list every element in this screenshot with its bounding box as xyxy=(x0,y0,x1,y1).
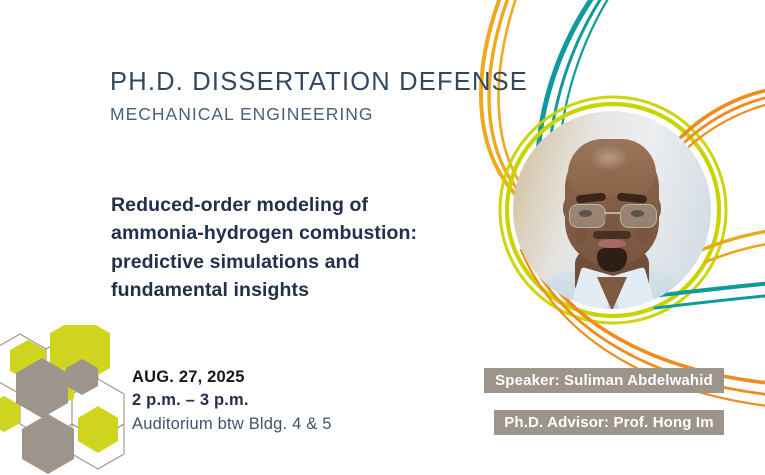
dissertation-title: Reduced-order modeling of ammonia-hydrog… xyxy=(111,191,467,305)
dissertation-title-line-2: ammonia-hydrogen combustion: xyxy=(111,219,467,247)
header-block: PH.D. DISSERTATION DEFENSE MECHANICAL EN… xyxy=(110,68,480,125)
event-time: 2 p.m. – 3 p.m. xyxy=(132,389,422,412)
dissertation-title-line-1: Reduced-order modeling of xyxy=(111,191,467,219)
speaker-portrait xyxy=(513,111,711,309)
department-subtitle: MECHANICAL ENGINEERING xyxy=(110,104,480,125)
portrait-moustache xyxy=(593,231,631,239)
glasses-lens-right xyxy=(620,204,657,228)
speaker-badge: Speaker: Suliman Abdelwahid xyxy=(484,368,724,393)
portrait-image xyxy=(513,111,711,309)
event-location: Auditorium btw Bldg. 4 & 5 xyxy=(132,413,422,436)
portrait-lips xyxy=(598,239,626,248)
page-title: PH.D. DISSERTATION DEFENSE xyxy=(110,68,480,97)
event-date: AUG. 27, 2025 xyxy=(132,366,422,389)
dissertation-title-line-4: fundamental insights xyxy=(111,276,467,304)
decorative-hexagons xyxy=(0,325,150,475)
portrait-highlight xyxy=(589,145,629,171)
glasses-lens-left xyxy=(569,204,606,228)
advisor-badge: Ph.D. Advisor: Prof. Hong Im xyxy=(494,410,724,435)
poster-canvas: PH.D. DISSERTATION DEFENSE MECHANICAL EN… xyxy=(0,0,765,475)
event-details: AUG. 27, 2025 2 p.m. – 3 p.m. Auditorium… xyxy=(132,366,422,436)
glasses-bridge xyxy=(604,212,620,214)
dissertation-title-line-3: predictive simulations and xyxy=(111,248,467,276)
